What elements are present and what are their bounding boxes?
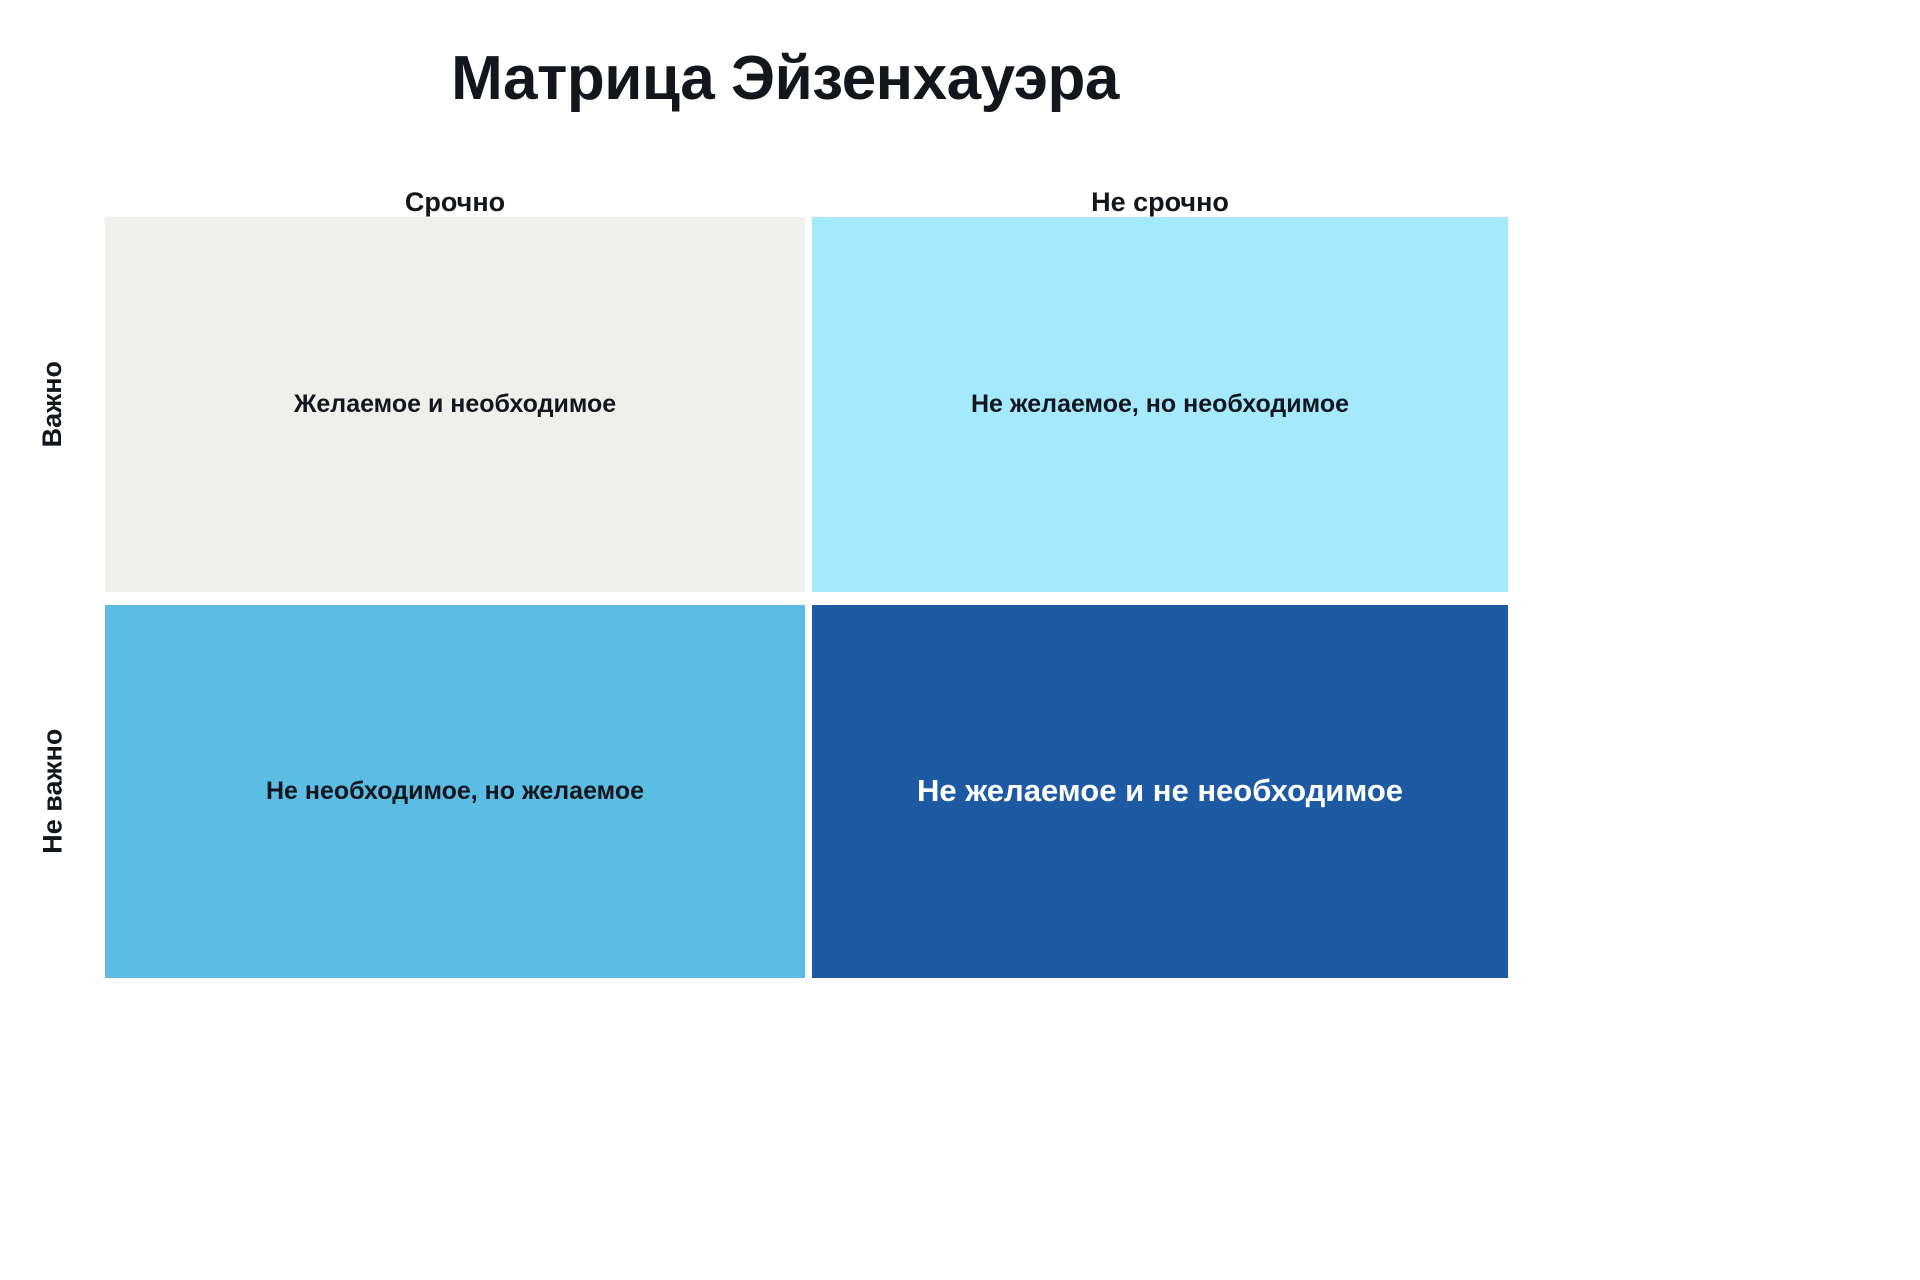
quadrant-not-important-not-urgent: Не желаемое и не необходимое: [812, 605, 1508, 978]
quadrant-important-urgent: Желаемое и необходимое: [105, 217, 805, 592]
row-label-important-text: Важно: [36, 361, 68, 447]
column-header-urgent: Срочно: [105, 186, 805, 218]
quadrant-important-not-urgent-label: Не желаемое, но необходимое: [971, 388, 1349, 421]
eisenhower-matrix-page: Матрица Эйзенхауэра Срочно Не срочно Важ…: [0, 0, 1920, 1280]
quadrant-important-not-urgent: Не желаемое, но необходимое: [812, 217, 1508, 592]
quadrant-important-urgent-label: Желаемое и необходимое: [294, 388, 616, 421]
page-title: Матрица Эйзенхауэра: [0, 45, 1570, 113]
quadrant-not-important-urgent-label: Не необходимое, но желаемое: [266, 775, 644, 808]
row-label-important: Важно: [0, 217, 105, 592]
column-header-not-urgent: Не срочно: [812, 186, 1508, 218]
quadrant-not-important-urgent: Не необходимое, но желаемое: [105, 605, 805, 978]
row-label-not-important-text: Не важно: [36, 729, 68, 854]
row-label-not-important: Не важно: [0, 605, 105, 978]
quadrant-not-important-not-urgent-label: Не желаемое и не необходимое: [917, 771, 1403, 811]
